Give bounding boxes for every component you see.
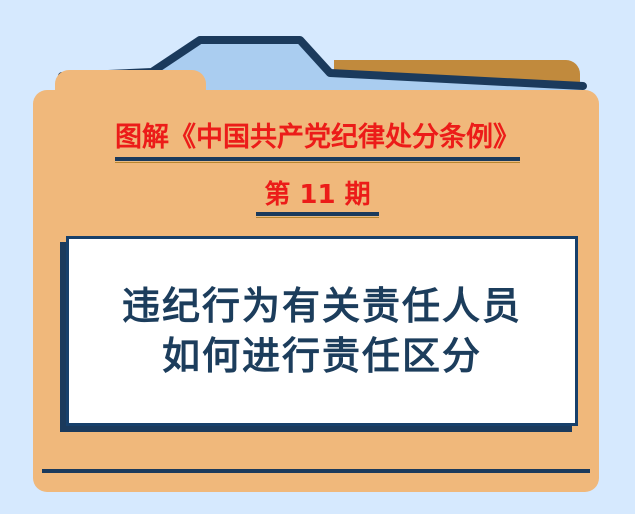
folder-front-tab bbox=[55, 70, 206, 90]
folder-front-body bbox=[33, 90, 599, 492]
folder-icon bbox=[0, 0, 635, 514]
poster-canvas: 图解《中国共产党纪律处分条例》 第 11 期 违纪行为有关责任人员 如何进行责任… bbox=[0, 0, 635, 514]
